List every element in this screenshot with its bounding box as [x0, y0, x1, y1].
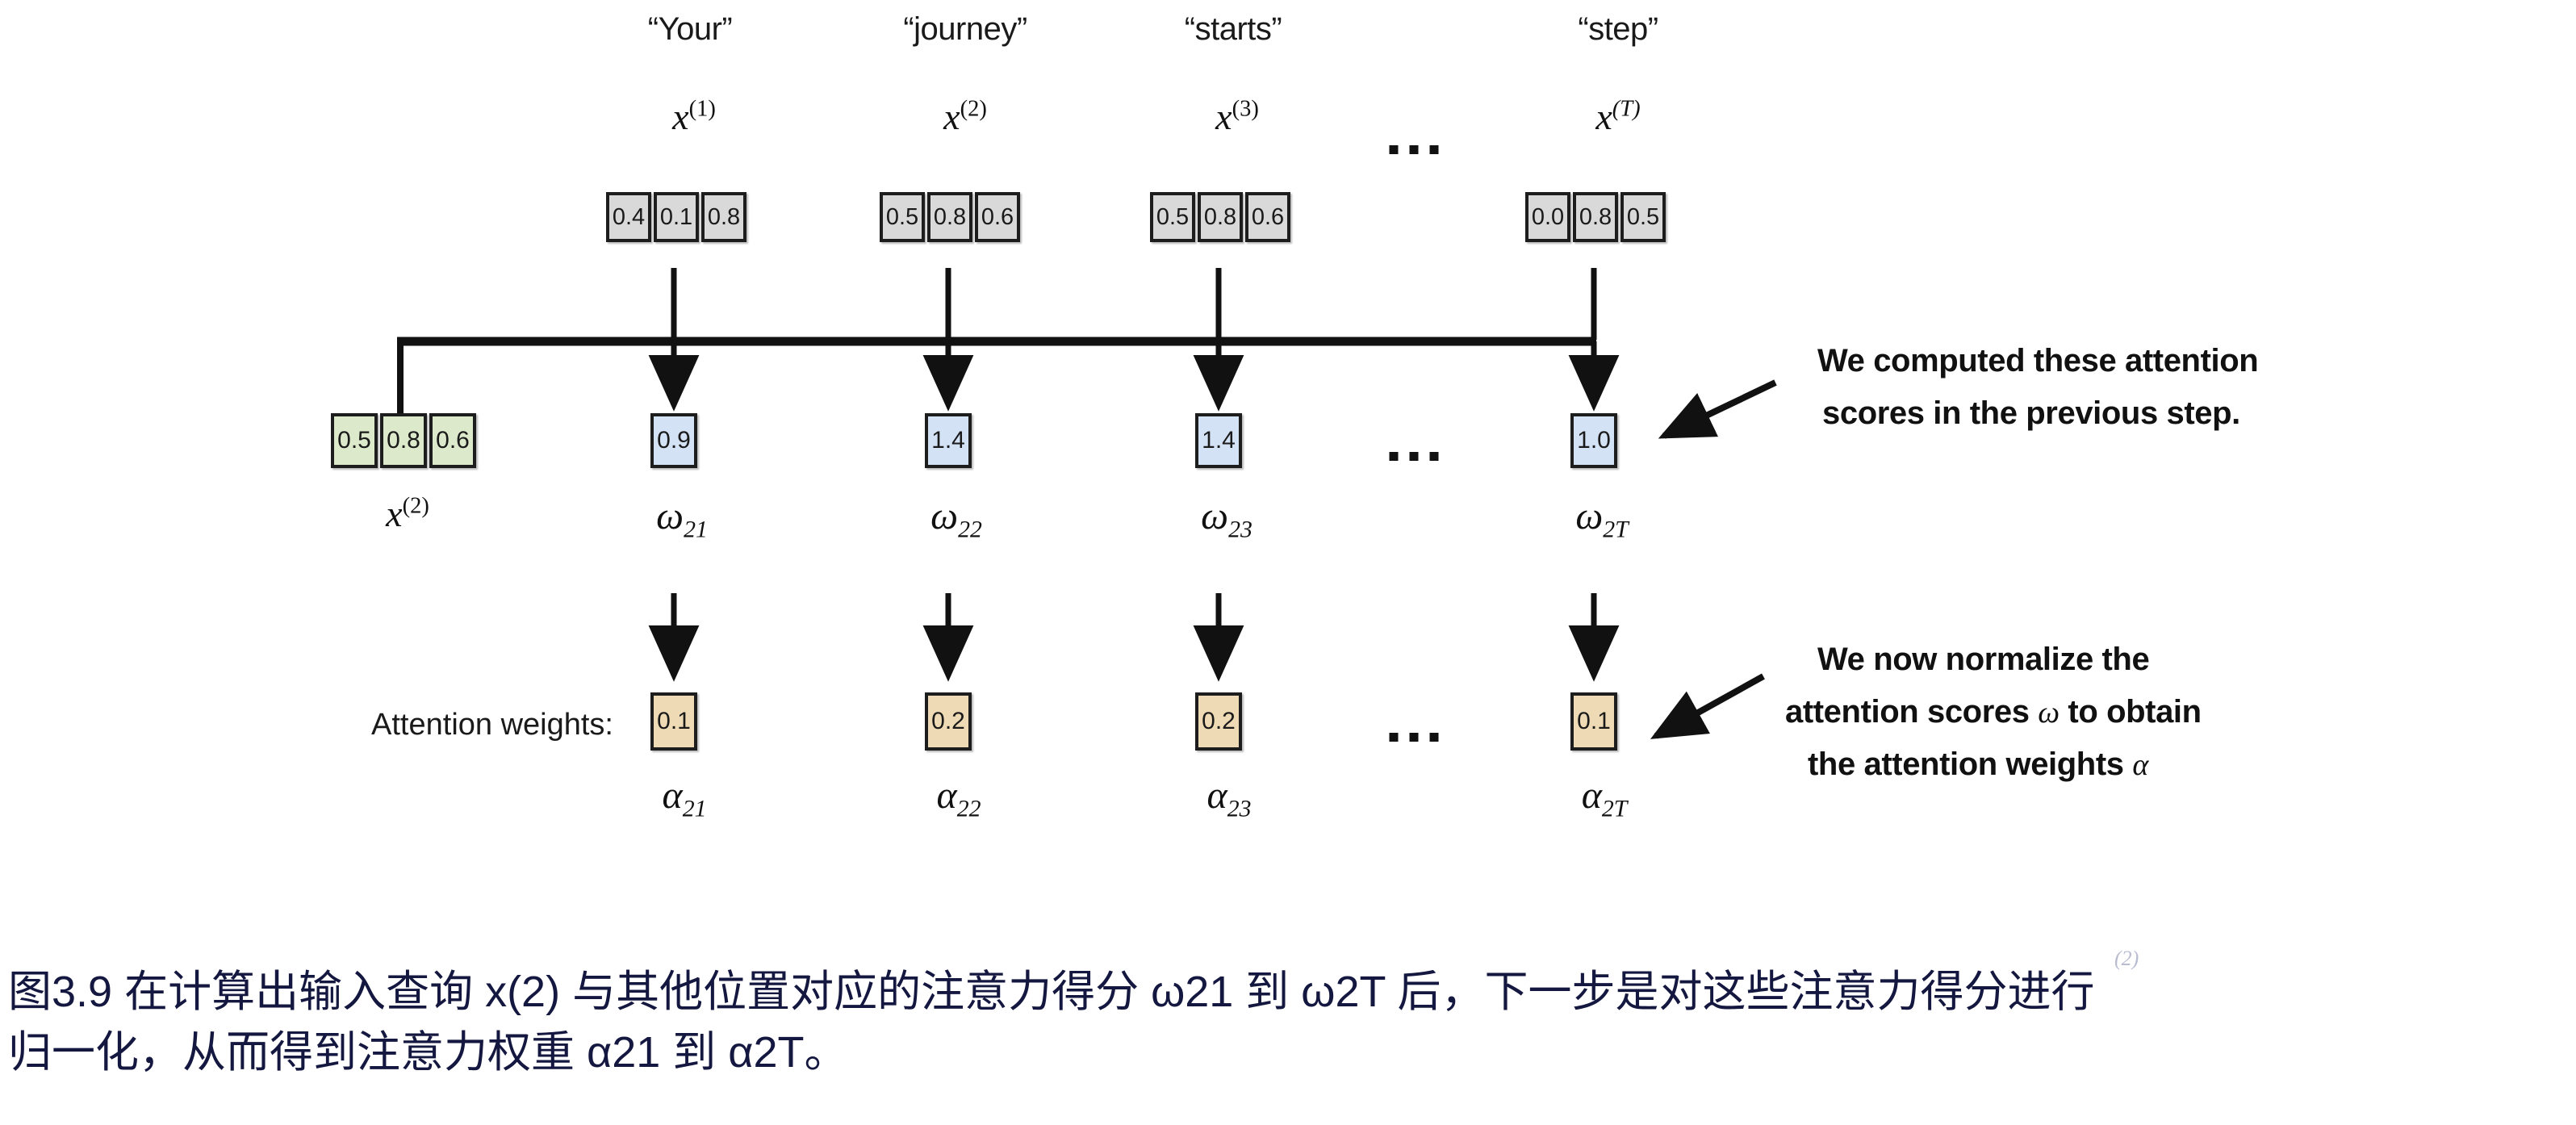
weight-label-sym-3: α	[1582, 774, 1602, 817]
input-cell: 0.6	[1245, 192, 1290, 242]
normalize-callout-line-3-a: the attention weights	[1808, 747, 2132, 782]
weight-box-0: 0.1	[650, 692, 697, 751]
weight-label-sub-0: 21	[683, 796, 707, 822]
ellipsis-dot	[1410, 145, 1419, 154]
scores-callout: We computed these attention scores in th…	[1817, 335, 2258, 440]
weight-label-sub-2: 23	[1227, 796, 1252, 822]
scores-callout-line-1: We computed these attention	[1817, 335, 2258, 387]
score-label-sym-1: ω	[930, 495, 958, 537]
query-symbol-base: x	[386, 493, 402, 534]
ellipsis-dot	[1410, 733, 1419, 742]
ellipsis-dot	[1390, 145, 1399, 154]
token-word-3: “step”	[1578, 11, 1658, 48]
normalize-callout-line-3: the attention weights α	[1808, 738, 2202, 791]
ellipsis-dot	[1430, 452, 1439, 461]
caption-line-2: 归一化，从而得到注意力权重 α21 到 α2T。	[8, 1023, 2574, 1083]
ellipsis-dot	[1410, 452, 1419, 461]
score-box-3: 1.0	[1570, 413, 1617, 468]
diagram-connectors	[0, 0, 2576, 1125]
caption-line-1: 图3.9 在计算出输入查询 x(2) 与其他位置对应的注意力得分 ω21 到 ω…	[8, 962, 2574, 1023]
input-cell: 0.5	[1620, 192, 1666, 242]
input-symbol-base-1: x	[943, 96, 960, 137]
weight-label-1: α22	[937, 773, 981, 823]
weight-label-sym-1: α	[937, 774, 957, 817]
ellipsis-dot	[1390, 452, 1399, 461]
weight-label-sym-2: α	[1207, 774, 1227, 817]
alpha-symbol: α	[2132, 748, 2148, 782]
input-to-bus-lines	[674, 268, 1594, 340]
score-label-sym-2: ω	[1201, 495, 1228, 537]
scores-callout-arrow	[1664, 383, 1775, 436]
normalize-callout-line-2-a: attention scores	[1785, 694, 2038, 730]
ellipsis-dot	[1430, 145, 1439, 154]
input-symbol-2: x(3)	[1215, 95, 1259, 138]
weight-cell: 0.2	[925, 692, 972, 751]
score-cell: 0.9	[650, 413, 697, 468]
input-cell: 0.6	[975, 192, 1020, 242]
ellipsis-weight-row	[1390, 733, 1439, 742]
weight-label-sub-1: 22	[957, 796, 981, 822]
input-vector-3: 0.0 0.8 0.5	[1525, 192, 1666, 242]
input-cell: 0.8	[927, 192, 972, 242]
input-cell: 0.5	[880, 192, 925, 242]
normalize-callout-arrow	[1656, 676, 1763, 736]
score-cell: 1.0	[1570, 413, 1617, 468]
weight-box-3: 0.1	[1570, 692, 1617, 751]
query-cell: 0.6	[429, 413, 476, 468]
weight-label-sym-0: α	[663, 774, 683, 817]
input-symbol-base-2: x	[1215, 96, 1232, 137]
input-symbol-sup-1: (2)	[960, 97, 987, 122]
score-label-sub-3: 2T	[1603, 516, 1628, 543]
score-label-2: ω23	[1201, 494, 1252, 544]
input-symbol-base-3: x	[1595, 96, 1612, 137]
normalize-callout: We now normalize the attention scores ω …	[1785, 634, 2202, 790]
input-cell: 0.8	[701, 192, 746, 242]
weight-box-1: 0.2	[925, 692, 972, 751]
score-cell: 1.4	[925, 413, 972, 468]
query-vector: 0.5 0.8 0.6	[331, 413, 476, 468]
ellipsis-dot	[1390, 733, 1399, 742]
input-symbol-sup-0: (1)	[689, 97, 716, 122]
input-symbol-base-0: x	[672, 96, 688, 137]
score-box-1: 1.4	[925, 413, 972, 468]
score-label-3: ω2T	[1575, 494, 1628, 544]
input-cell: 0.8	[1573, 192, 1618, 242]
attention-diagram: “Your” “journey” “starts” “step” x(1) x(…	[0, 0, 2576, 1125]
score-label-0: ω21	[656, 494, 708, 544]
input-symbol-sup-2: (3)	[1232, 97, 1259, 122]
weight-label-3: α2T	[1582, 773, 1628, 823]
score-label-sub-2: 23	[1228, 516, 1252, 543]
score-label-sub-0: 21	[684, 516, 708, 543]
token-word-0: “Your”	[648, 11, 732, 48]
weight-cell: 0.1	[650, 692, 697, 751]
weight-cell: 0.2	[1195, 692, 1242, 751]
caption-ghost-artifact: (2)	[2114, 944, 2139, 973]
ellipsis-dot	[1430, 733, 1439, 742]
score-box-2: 1.4	[1195, 413, 1242, 468]
score-cell: 1.4	[1195, 413, 1242, 468]
input-cell: 0.1	[654, 192, 699, 242]
weight-label-2: α23	[1207, 773, 1252, 823]
normalize-callout-line-2: attention scores ω to obtain	[1785, 686, 2202, 738]
input-vector-2: 0.5 0.8 0.6	[1150, 192, 1290, 242]
scores-callout-line-2: scores in the previous step.	[1822, 387, 2258, 440]
weight-cell: 0.1	[1570, 692, 1617, 751]
score-label-sym-0: ω	[656, 495, 684, 537]
attention-weights-row-label: Attention weights:	[371, 708, 613, 742]
input-cell: 0.8	[1198, 192, 1243, 242]
normalize-callout-line-1: We now normalize the	[1817, 634, 2202, 686]
weight-label-sub-3: 2T	[1602, 796, 1627, 822]
input-cell: 0.5	[1150, 192, 1195, 242]
score-label-sym-3: ω	[1575, 495, 1603, 537]
input-vector-1: 0.5 0.8 0.6	[880, 192, 1020, 242]
weight-label-0: α21	[663, 773, 707, 823]
token-word-2: “starts”	[1185, 11, 1282, 48]
ellipsis-score-row	[1390, 452, 1439, 461]
input-vector-0: 0.4 0.1 0.8	[606, 192, 746, 242]
query-cell: 0.5	[331, 413, 378, 468]
token-word-1: “journey”	[903, 11, 1027, 48]
score-to-weight-arrows	[674, 593, 1594, 674]
input-cell: 0.0	[1525, 192, 1570, 242]
query-symbol: x(2)	[386, 492, 429, 535]
query-cell: 0.8	[380, 413, 427, 468]
score-label-1: ω22	[930, 494, 982, 544]
weight-box-2: 0.2	[1195, 692, 1242, 751]
bus-to-score-arrows	[674, 341, 1594, 404]
input-symbol-1: x(2)	[943, 95, 987, 138]
ellipsis-input-row	[1390, 145, 1439, 154]
figure-caption: 图3.9 在计算出输入查询 x(2) 与其他位置对应的注意力得分 ω21 到 ω…	[8, 962, 2574, 1082]
omega-symbol: ω	[2038, 696, 2059, 730]
input-symbol-0: x(1)	[672, 95, 716, 138]
input-cell: 0.4	[606, 192, 651, 242]
input-symbol-sup-3: (T)	[1612, 97, 1641, 122]
normalize-callout-line-2-b: to obtain	[2060, 694, 2202, 730]
score-label-sub-1: 22	[958, 516, 982, 543]
input-symbol-3: x(T)	[1595, 95, 1640, 138]
score-box-0: 0.9	[650, 413, 697, 468]
query-symbol-sup: (2)	[403, 494, 429, 519]
